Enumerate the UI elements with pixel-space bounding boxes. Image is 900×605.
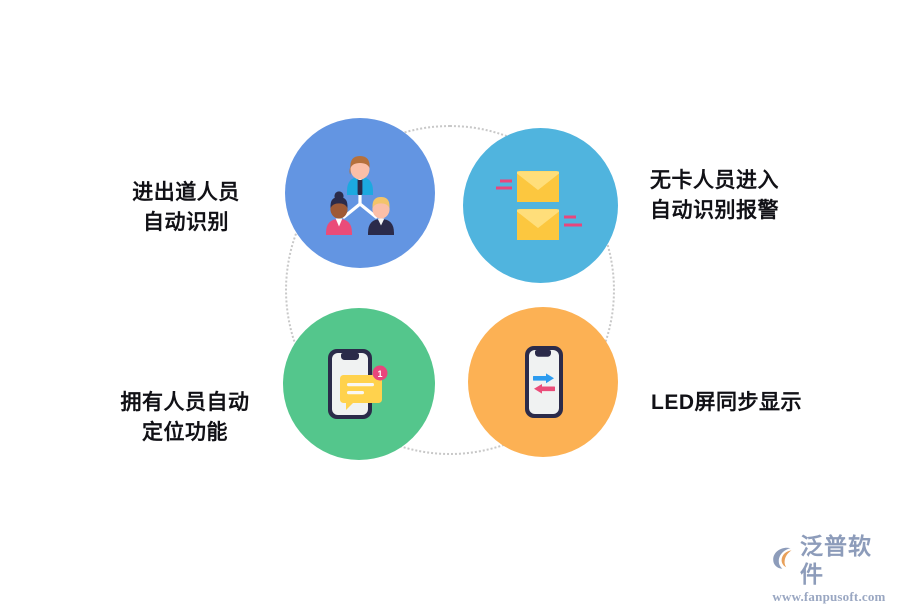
node-label-people: 进出道人员 自动识别	[96, 178, 276, 238]
node-circle-message[interactable]: 1	[283, 308, 435, 460]
node-label-led: LED屏同步显示	[651, 388, 871, 418]
people-group-icon	[314, 147, 406, 239]
infographic-canvas: 进出道人员 自动识别	[0, 0, 900, 600]
watermark: 泛普软件 www.fanpusoft.com	[770, 532, 890, 590]
node-label-message: 拥有人员自动 定位功能	[92, 388, 278, 448]
phone-message-notification-icon: 1	[316, 341, 402, 427]
node-label-envelope: 无卡人员进入 自动识别报警	[650, 166, 860, 226]
watermark-brand: 泛普软件	[800, 532, 890, 588]
svg-text:1: 1	[377, 369, 382, 379]
envelopes-alert-icon	[496, 161, 586, 251]
watermark-url: www.fanpusoft.com	[770, 589, 888, 605]
phone-sync-arrows-icon	[503, 340, 583, 424]
node-circle-people[interactable]	[285, 118, 435, 268]
node-circle-led[interactable]	[468, 307, 618, 457]
node-circle-envelope[interactable]	[463, 128, 618, 283]
fanpu-logo-icon	[770, 545, 796, 576]
